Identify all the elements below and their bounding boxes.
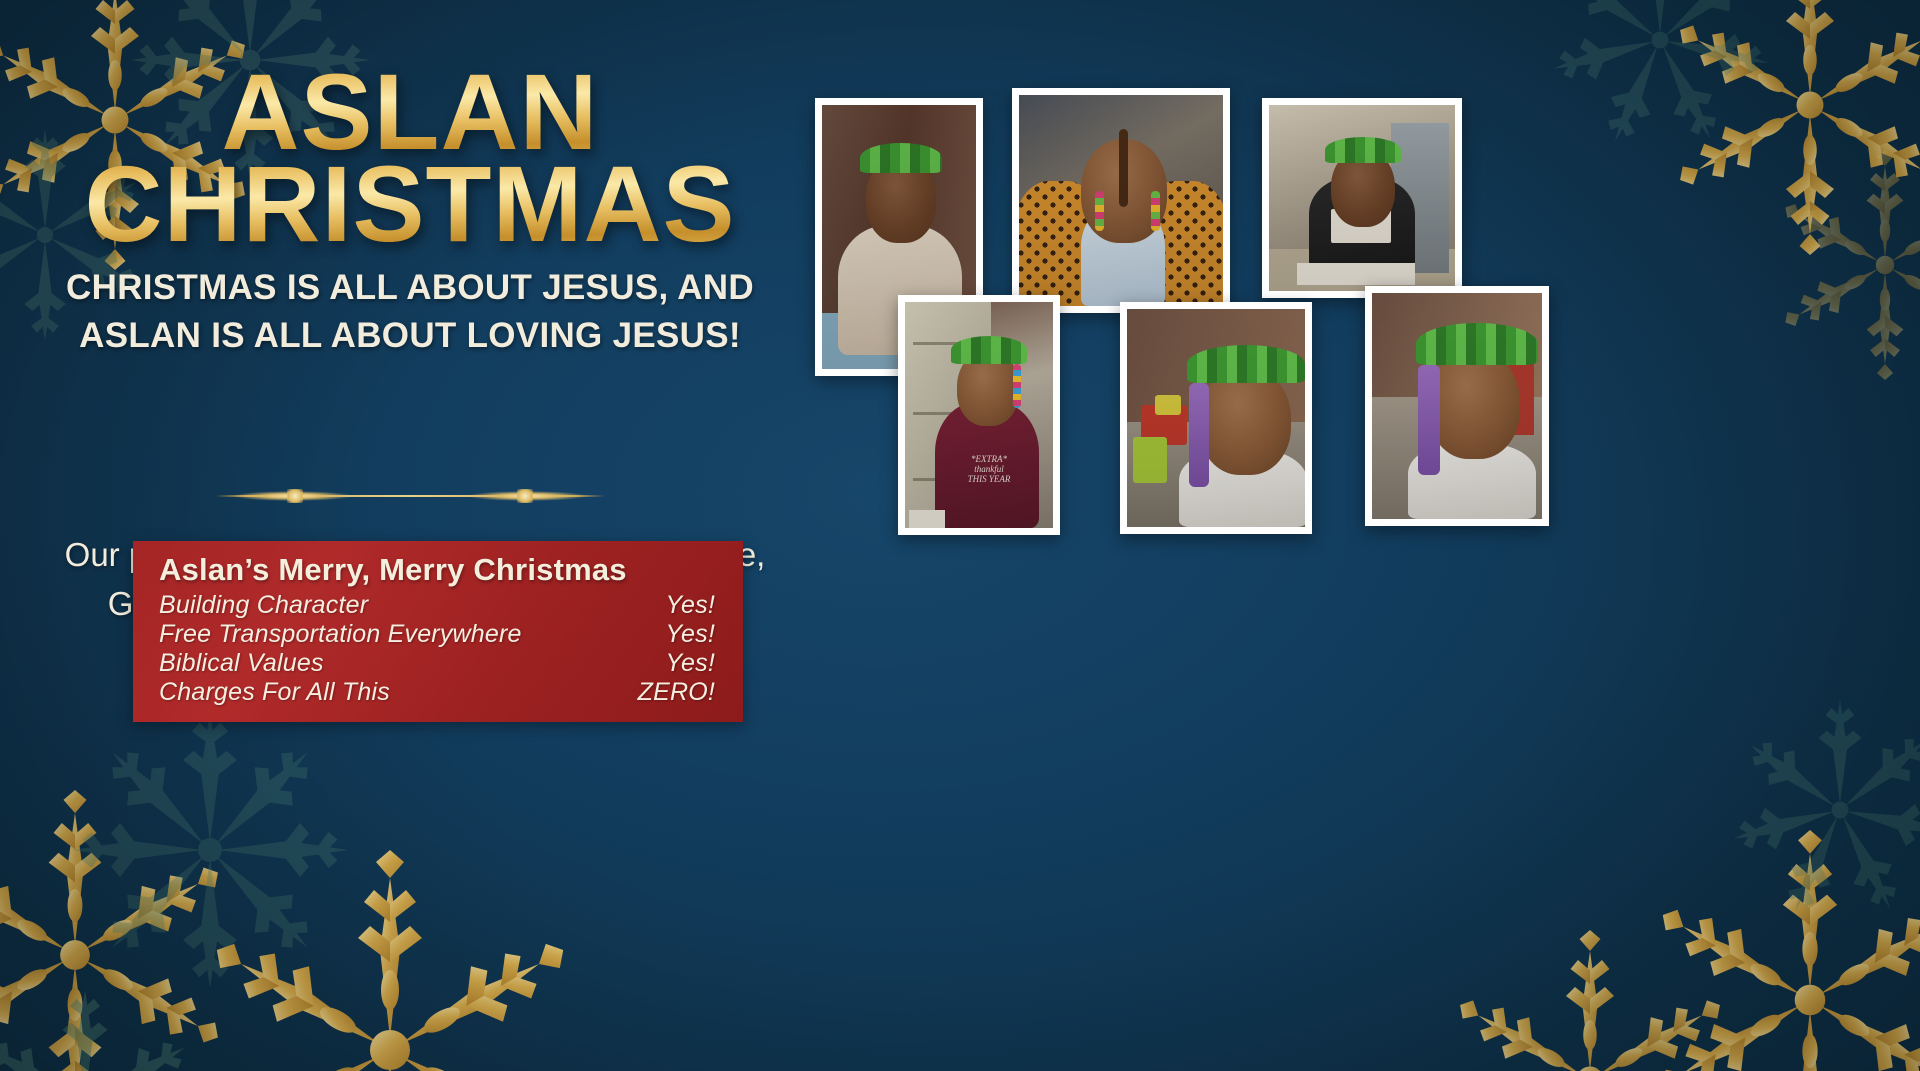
poster-subtitle: CHRISTMAS IS ALL ABOUT JESUS, AND ASLAN …	[40, 264, 780, 361]
photo-caption: Child with green leaf crown seated at a …	[1269, 291, 1270, 292]
photo-girl-purple-braids-white-shirt: Girl with green crown and purple braids …	[1365, 286, 1549, 526]
value-box-row: Building Character Yes!	[159, 591, 719, 620]
value-row-value: ZERO!	[559, 678, 719, 707]
gold-snowflake-ornament	[1640, 830, 1920, 1071]
value-box-row: Free Transportation Everywhere Yes!	[159, 620, 719, 649]
value-row-value: Yes!	[559, 649, 719, 678]
value-row-label: Charges For All This	[159, 678, 559, 707]
value-row-label: Biblical Values	[159, 649, 559, 678]
left-content-column: ASLAN CHRISTMAS CHRISTMAS IS ALL ABOUT J…	[0, 0, 820, 1071]
value-box-title: Aslan’s Merry, Merry Christmas	[159, 552, 719, 588]
subtitle-line-2: ASLAN IS ALL ABOUT LOVING JESUS!	[40, 312, 780, 360]
student-photo-collage: Girl wearing green leaf crown in cream p…	[880, 80, 1900, 560]
photo-caption: Girl with green crown and purple braids …	[1372, 519, 1373, 520]
photo-caption: Girl with green crown and purple braids …	[1127, 527, 1128, 528]
gold-snowflake-ornament	[1440, 930, 1740, 1071]
photo-caption: Girl wearing green leaf crown in cream p…	[822, 369, 823, 370]
gold-ornamental-divider	[215, 487, 605, 505]
photo-girl-maroon-thankful-shirt: *EXTRA* thankful THIS YEAR Girl with gre…	[898, 295, 1060, 535]
photo-girl-purple-braids-classroom: Girl with green crown and purple braids …	[1120, 302, 1312, 534]
value-row-value: Yes!	[559, 591, 719, 620]
photo-boy-green-crown-desk: Child with green leaf crown seated at a …	[1262, 98, 1462, 298]
value-proposition-box: Aslan’s Merry, Merry Christmas Building …	[133, 541, 743, 722]
value-row-label: Free Transportation Everywhere	[159, 620, 559, 649]
title-line-christmas: CHRISTMAS	[0, 154, 820, 254]
photo-caption: Girl with green crown and beaded braids …	[905, 528, 906, 529]
photo-girl-leopard-coat-beads: Girl with braided hair and colorful bead…	[1012, 88, 1230, 313]
gold-snowflake-ornament	[1720, 690, 1920, 930]
value-box-row: Biblical Values Yes!	[159, 649, 719, 678]
poster-title: ASLAN CHRISTMAS	[0, 62, 820, 255]
value-box-row: Charges For All This ZERO!	[159, 678, 719, 707]
subtitle-line-1: CHRISTMAS IS ALL ABOUT JESUS, AND	[40, 264, 780, 312]
christmas-poster: ASLAN CHRISTMAS CHRISTMAS IS ALL ABOUT J…	[0, 0, 1920, 1071]
value-row-label: Building Character	[159, 591, 559, 620]
value-row-value: Yes!	[559, 620, 719, 649]
